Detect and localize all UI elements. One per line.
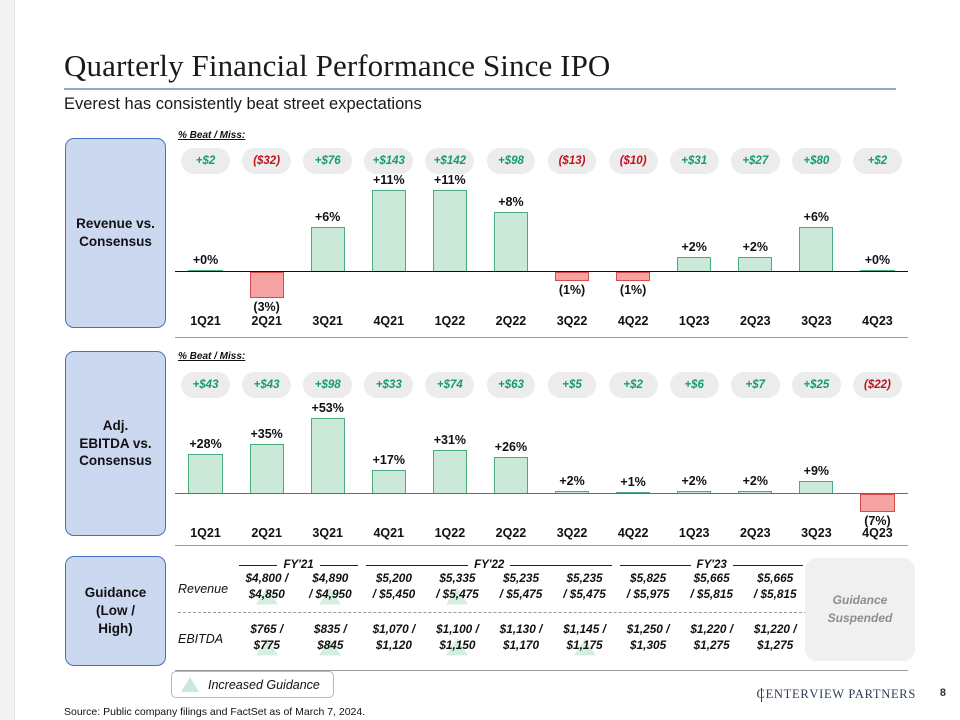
- guidance-fy-header: FY'21: [239, 559, 358, 571]
- beat-miss-pill: +$33: [364, 372, 413, 398]
- beat-miss-pill: +$74: [425, 372, 474, 398]
- increased-guidance-marker: $1,175: [566, 638, 602, 654]
- chart-x-tick: 4Q23: [847, 526, 908, 540]
- guidance-revenue-cell: $4,800 /$4,850: [235, 571, 299, 603]
- chart-bar-value: +1%: [603, 475, 664, 489]
- guidance-ebitda-cell-low: $765 /: [235, 622, 299, 638]
- section-label-guidance: Guidance(Low /High): [65, 556, 166, 666]
- beat-miss-pill: ($13): [548, 148, 597, 174]
- guidance-ebitda-cell-high: $1,150: [426, 638, 490, 654]
- beat-miss-pill: ($10): [609, 148, 658, 174]
- guidance-revenue-cell: $5,665/ $5,815: [680, 571, 744, 603]
- triangle-up-icon: [181, 677, 199, 692]
- section-label-ebitda-text: Adj.EBITDA vs.Consensus: [79, 417, 152, 470]
- guidance-revenue-cell-low: $5,200: [362, 571, 426, 587]
- guidance-revenue-cell-high: / $5,975: [616, 587, 680, 603]
- chart-bar-value: +2%: [664, 240, 725, 254]
- chart-x-tick: 1Q21: [175, 314, 236, 328]
- chart-x-tick: 3Q22: [542, 314, 603, 328]
- chart-x-tick: 2Q23: [725, 526, 786, 540]
- chart-bar-value: +26%: [480, 440, 541, 454]
- chart-bar-value: (3%): [236, 300, 297, 314]
- guidance-revenue-cell-low: $5,335: [426, 571, 490, 587]
- guidance-ebitda-cell-high: $1,175: [553, 638, 617, 654]
- increased-guidance-marker: / $5,475: [436, 587, 479, 603]
- guidance-revenue-cell-low: $5,235: [553, 571, 617, 587]
- chart-revenue-negative-area: (3%)(1%)(1%): [175, 272, 908, 302]
- chart-bar-value: +9%: [786, 464, 847, 478]
- chart-x-tick: 1Q23: [664, 526, 725, 540]
- guidance-fy-header: FY'23: [620, 559, 803, 571]
- section-label-revenue: Revenue vs.Consensus: [65, 138, 166, 328]
- centerview-partners-logo: CENTER VIEW PARTNERS: [757, 687, 916, 702]
- section-label-revenue-text: Revenue vs.Consensus: [76, 215, 155, 251]
- left-edge-accent: [0, 0, 14, 720]
- logo-text-second: VIEW PARTNERS: [809, 687, 916, 702]
- beat-miss-pill: +$2: [181, 148, 230, 174]
- beat-miss-pill: +$43: [181, 372, 230, 398]
- guidance-revenue-cell-high: / $5,815: [680, 587, 744, 603]
- beat-miss-pill: +$25: [792, 372, 841, 398]
- chart-revenue-x-axis: 1Q212Q213Q214Q211Q222Q223Q224Q221Q232Q23…: [175, 314, 908, 332]
- guidance-revenue-cell-low: $5,825: [616, 571, 680, 587]
- guidance-ebitda-cell: $835 /$845: [299, 622, 363, 654]
- fy-rule-right: [320, 565, 358, 566]
- increased-guidance-marker: $1,150: [439, 638, 475, 654]
- chart-x-tick: 4Q21: [358, 526, 419, 540]
- guidance-fy-header: FY'22: [366, 559, 612, 571]
- chart-x-tick: 3Q21: [297, 314, 358, 328]
- guidance-revenue-cell-low: $5,235: [489, 571, 553, 587]
- chart-x-tick: 3Q23: [786, 314, 847, 328]
- chart-bar-value: +11%: [358, 173, 419, 187]
- guidance-ebitda-cell: $1,220 /$1,275: [743, 622, 807, 654]
- chart-x-tick: 1Q23: [664, 314, 725, 328]
- chart-bar: [799, 227, 833, 272]
- increased-guidance-marker: $775: [254, 638, 280, 654]
- beat-miss-pill: +$63: [487, 372, 536, 398]
- guidance-revenue-cell: $4,890/ $4,950: [299, 571, 363, 603]
- beat-miss-pill: +$31: [670, 148, 719, 174]
- chart-bar: [311, 418, 345, 494]
- fy-label: FY'22: [474, 559, 504, 571]
- page-subtitle: Everest has consistently beat street exp…: [64, 95, 904, 114]
- chart-bar-value: +35%: [236, 427, 297, 441]
- guidance-revenue-cell-low: $5,665: [680, 571, 744, 587]
- guidance-ebitda-cell: $1,220 /$1,275: [680, 622, 744, 654]
- guidance-ebitda-cell-high: $1,305: [616, 638, 680, 654]
- guidance-ebitda-cell-low: $1,130 /: [489, 622, 553, 638]
- page-number: 8: [940, 687, 946, 699]
- guidance-revenue-cell-high: / $5,475: [489, 587, 553, 603]
- beat-miss-pill: +$43: [242, 372, 291, 398]
- guidance-revenue-cell-high: / $5,475: [426, 587, 490, 603]
- chart-bar-value: +2%: [725, 474, 786, 488]
- guidance-ebitda-cell-low: $1,070 /: [362, 622, 426, 638]
- chart-bar-value: +2%: [542, 474, 603, 488]
- beat-miss-pill: ($32): [242, 148, 291, 174]
- chart-bar-value: +11%: [419, 173, 480, 187]
- chart-bar: [372, 190, 406, 272]
- chart-bar: [677, 257, 711, 272]
- chart-bar-value: +6%: [297, 210, 358, 224]
- beat-miss-pill: +$6: [670, 372, 719, 398]
- increased-guidance-marker: $845: [317, 638, 343, 654]
- chart-x-tick: 2Q22: [480, 526, 541, 540]
- chart-bar: [188, 454, 222, 494]
- section-separator-1: [175, 337, 908, 338]
- chart-x-tick: 3Q21: [297, 526, 358, 540]
- logo-divider-icon: [761, 688, 762, 702]
- chart-bar-value: +31%: [419, 433, 480, 447]
- chart-bar-value: +0%: [175, 253, 236, 267]
- chart-bar-value: +53%: [297, 401, 358, 415]
- chart-x-tick: 2Q22: [480, 314, 541, 328]
- source-note: Source: Public company filings and FactS…: [64, 706, 365, 718]
- chart-bar: [311, 227, 345, 272]
- beat-miss-pill: +$2: [853, 148, 902, 174]
- chart-bar: [494, 212, 528, 272]
- section-label-ebitda: Adj.EBITDA vs.Consensus: [65, 351, 166, 536]
- guidance-ebitda-cell-high: $1,275: [680, 638, 744, 654]
- guidance-ebitda-cell-low: $1,145 /: [553, 622, 617, 638]
- guidance-revenue-cell-low: $5,665: [743, 571, 807, 587]
- guidance-revenue-cell: $5,235/ $5,475: [553, 571, 617, 603]
- guidance-suspended-text: GuidanceSuspended: [828, 592, 893, 627]
- chart-bar-value: +2%: [664, 474, 725, 488]
- section-separator-2: [175, 545, 908, 546]
- fy-rule-left: [620, 565, 690, 566]
- chart-bar-value: (1%): [603, 283, 664, 297]
- guidance-revenue-cell-high: / $5,450: [362, 587, 426, 603]
- guidance-revenue-cell: $5,665/ $5,815: [743, 571, 807, 603]
- chart-revenue: +0%+6%+11%+11%+8%+2%+2%+6%+0%: [175, 176, 908, 272]
- increased-guidance-marker: $4,850: [249, 587, 285, 603]
- chart-ebitda: +28%+35%+53%+17%+31%+26%+2%+1%+2%+2%+9%: [175, 404, 908, 494]
- guidance-ebitda-cell-low: $1,250 /: [616, 622, 680, 638]
- guidance-revenue-cell-low: $4,800 /: [235, 571, 299, 587]
- chart-x-tick: 2Q23: [725, 314, 786, 328]
- guidance-row-divider: [178, 612, 807, 613]
- chart-bar-value: (1%): [542, 283, 603, 297]
- guidance-ebitda-cell: $1,130 /$1,170: [489, 622, 553, 654]
- chart-x-tick: 2Q21: [236, 526, 297, 540]
- chart-bar: [738, 257, 772, 272]
- fy-rule-left: [366, 565, 468, 566]
- title-underline-rule: [64, 88, 896, 90]
- beat-miss-pill: +$7: [731, 372, 780, 398]
- guidance-row-label-revenue: Revenue: [178, 582, 228, 596]
- chart-x-tick: 4Q22: [603, 526, 664, 540]
- beat-miss-pill: +$142: [425, 148, 474, 174]
- chart-bar-value: +28%: [175, 437, 236, 451]
- chart-ebitda-x-axis: 1Q212Q213Q214Q211Q222Q223Q224Q221Q232Q23…: [175, 526, 908, 544]
- guidance-revenue-cell-high: $4,850: [235, 587, 299, 603]
- section-label-guidance-text: Guidance(Low /High): [85, 584, 147, 637]
- chart-x-tick: 1Q21: [175, 526, 236, 540]
- guidance-ebitda-cell-high: $775: [235, 638, 299, 654]
- chart-bar-value: +17%: [358, 453, 419, 467]
- beat-miss-pill: +$27: [731, 148, 780, 174]
- guidance-ebitda-cell-low: $1,100 /: [426, 622, 490, 638]
- chart-bar-value: +6%: [786, 210, 847, 224]
- guidance-ebitda-cell: $1,100 /$1,150: [426, 622, 490, 654]
- fy-label: FY'23: [697, 559, 727, 571]
- chart-bar: [555, 272, 589, 281]
- guidance-ebitda-cell: $765 /$775: [235, 622, 299, 654]
- fy-label: FY'21: [283, 559, 313, 571]
- slide: Quarterly Financial Performance Since IP…: [0, 0, 960, 720]
- beat-miss-pill: +$5: [548, 372, 597, 398]
- guidance-revenue-cell-high: / $5,815: [743, 587, 807, 603]
- chart-bar: [433, 190, 467, 272]
- chart-x-tick: 4Q22: [603, 314, 664, 328]
- beat-miss-pill: +$143: [364, 148, 413, 174]
- guidance-ebitda-cell-low: $1,220 /: [680, 622, 744, 638]
- chart-bar: [616, 272, 650, 281]
- guidance-row-label-ebitda: EBITDA: [178, 632, 223, 646]
- chart-x-tick: 3Q23: [786, 526, 847, 540]
- fy-rule-left: [239, 565, 277, 566]
- guidance-revenue-cell: $5,825/ $5,975: [616, 571, 680, 603]
- guidance-ebitda-cell: $1,250 /$1,305: [616, 622, 680, 654]
- left-edge-divider: [14, 0, 15, 720]
- guidance-revenue-cell-high: / $5,475: [553, 587, 617, 603]
- chart-bar: [372, 470, 406, 494]
- chart-bar-value: +0%: [847, 253, 908, 267]
- guidance-ebitda-cell: $1,145 /$1,175: [553, 622, 617, 654]
- chart-x-tick: 4Q23: [847, 314, 908, 328]
- legend-label: Increased Guidance: [208, 678, 320, 692]
- chart-bar: [860, 494, 894, 512]
- chart-bar: [494, 457, 528, 494]
- guidance-ebitda-cell-high: $845: [299, 638, 363, 654]
- chart-bar: [250, 272, 284, 298]
- beat-miss-pill: +$80: [792, 148, 841, 174]
- beat-miss-pill: +$76: [303, 148, 352, 174]
- guidance-revenue-cell-high: / $4,950: [299, 587, 363, 603]
- guidance-ebitda-cell-high: $1,120: [362, 638, 426, 654]
- guidance-ebitda-cell-high: $1,275: [743, 638, 807, 654]
- chart-bar-value: +8%: [480, 195, 541, 209]
- beat-miss-label-revenue: % Beat / Miss:: [178, 130, 245, 141]
- beat-miss-label-ebitda: % Beat / Miss:: [178, 351, 245, 362]
- beat-miss-pill: ($22): [853, 372, 902, 398]
- chart-bar-value: +2%: [725, 240, 786, 254]
- guidance-revenue-cell-low: $4,890: [299, 571, 363, 587]
- guidance-ebitda-cell-low: $835 /: [299, 622, 363, 638]
- guidance-ebitda-cell-low: $1,220 /: [743, 622, 807, 638]
- fy-rule-right: [510, 565, 612, 566]
- guidance-revenue-cell: $5,200/ $5,450: [362, 571, 426, 603]
- beat-miss-pill: +$98: [303, 372, 352, 398]
- chart-ebitda-negative-area: (7%): [175, 494, 908, 516]
- chart-x-tick: 4Q21: [358, 314, 419, 328]
- guidance-revenue-cell: $5,235/ $5,475: [489, 571, 553, 603]
- chart-x-tick: 1Q22: [419, 314, 480, 328]
- chart-x-tick: 3Q22: [542, 526, 603, 540]
- guidance-ebitda-cell-high: $1,170: [489, 638, 553, 654]
- guidance-suspended-box: GuidanceSuspended: [805, 558, 915, 661]
- guidance-revenue-cell: $5,335/ $5,475: [426, 571, 490, 603]
- chart-x-tick: 1Q22: [419, 526, 480, 540]
- page-title: Quarterly Financial Performance Since IP…: [64, 48, 904, 84]
- beat-miss-pill: +$98: [487, 148, 536, 174]
- legend-increased-guidance[interactable]: Increased Guidance: [171, 671, 334, 698]
- guidance-ebitda-cell: $1,070 /$1,120: [362, 622, 426, 654]
- logo-text-first: CENTER: [757, 687, 810, 702]
- chart-bar: [433, 450, 467, 494]
- increased-guidance-marker: / $4,950: [309, 587, 352, 603]
- chart-bar: [250, 444, 284, 494]
- fy-rule-right: [733, 565, 803, 566]
- beat-miss-pill: +$2: [609, 372, 658, 398]
- chart-x-tick: 2Q21: [236, 314, 297, 328]
